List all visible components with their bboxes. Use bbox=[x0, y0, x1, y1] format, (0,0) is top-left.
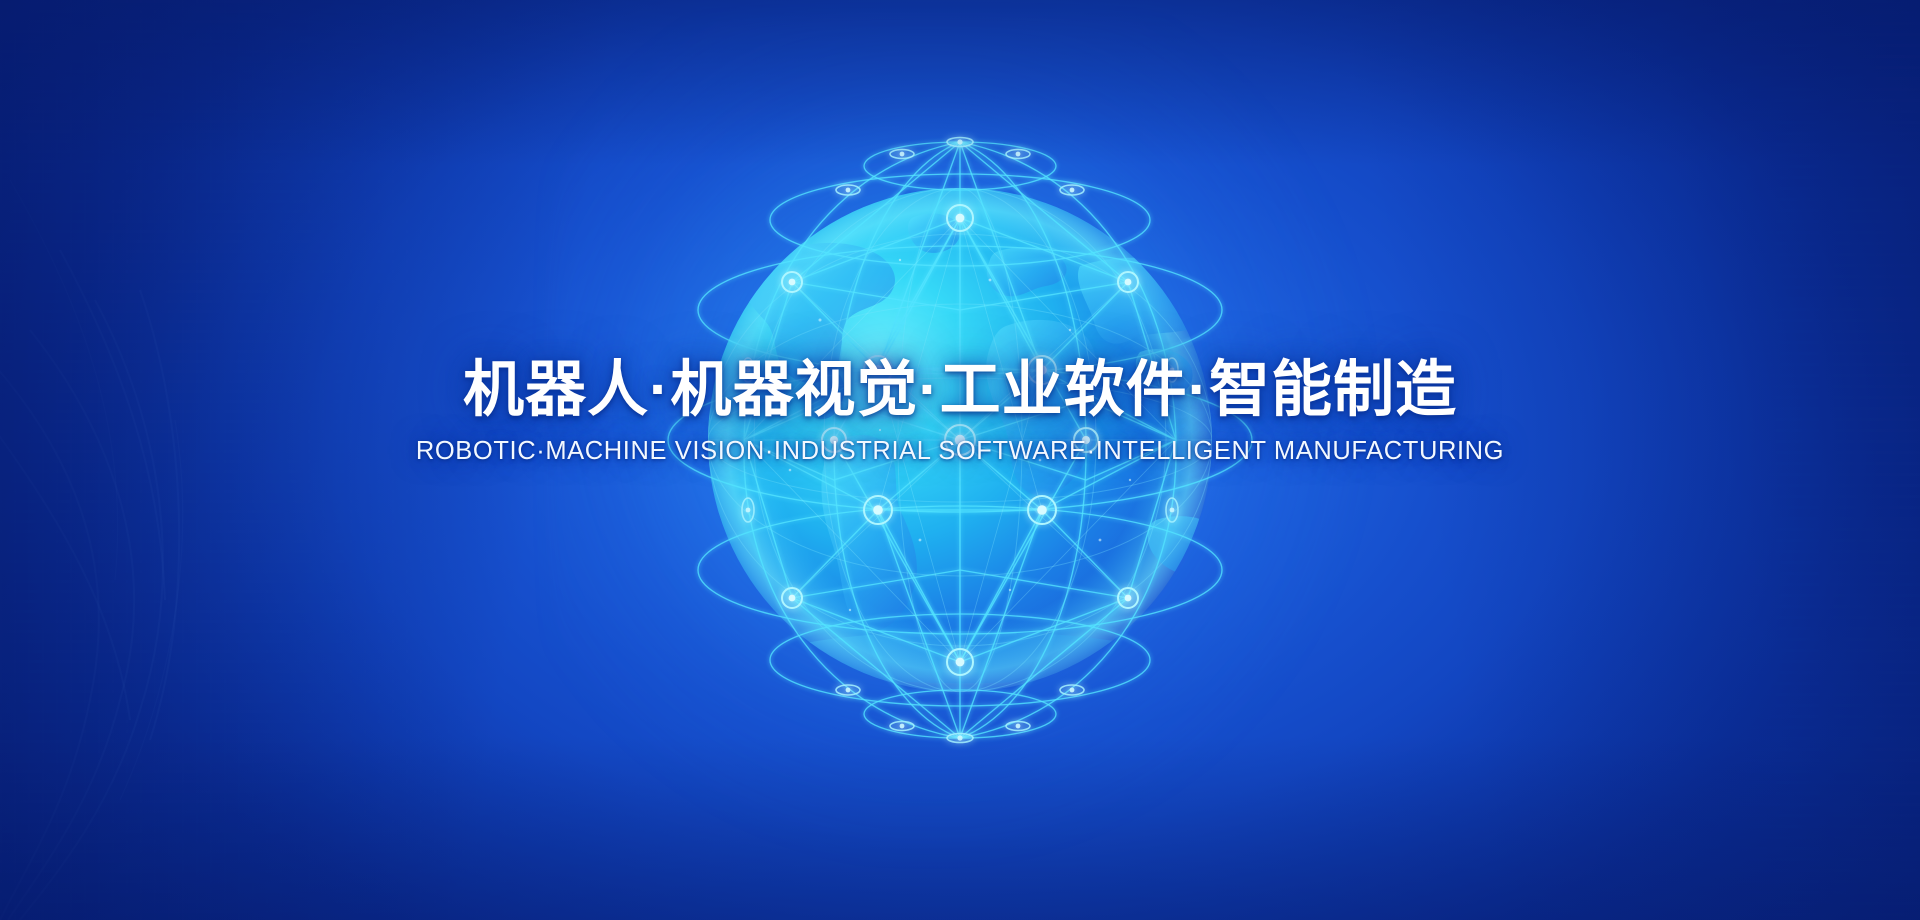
page-title: 机器人·机器视觉·工业软件·智能制造 bbox=[0, 352, 1920, 426]
hero-text-block: 机器人·机器视觉·工业软件·智能制造 ROBOTIC·MACHINE VISIO… bbox=[0, 352, 1920, 466]
page-subtitle: ROBOTIC·MACHINE VISION·INDUSTRIAL SOFTWA… bbox=[0, 436, 1920, 466]
hero-banner: 机器人·机器视觉·工业软件·智能制造 ROBOTIC·MACHINE VISIO… bbox=[0, 0, 1920, 920]
